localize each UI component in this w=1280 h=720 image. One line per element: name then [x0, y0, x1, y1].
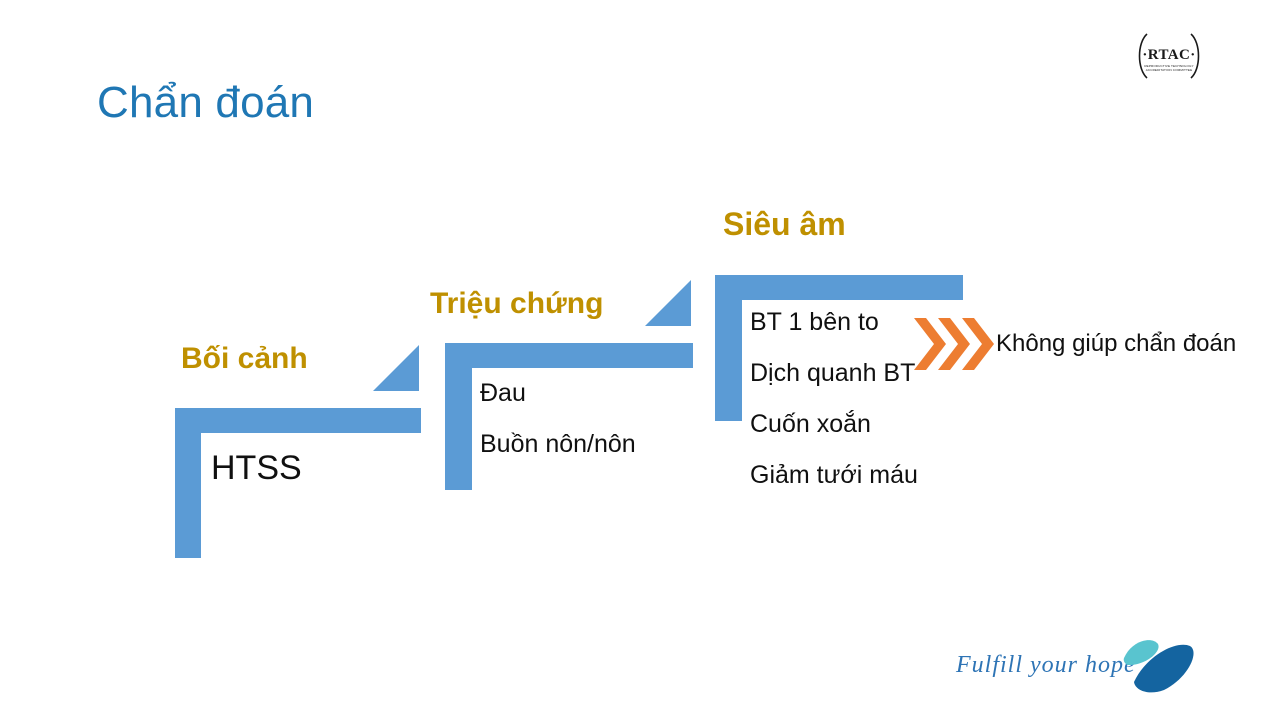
step-2-bar-vertical — [445, 343, 472, 490]
step-1-bar-vertical — [175, 408, 201, 558]
step-2-triangle-icon — [645, 280, 691, 326]
step-1-heading: Bối cảnh — [181, 342, 308, 376]
svg-text:ACCREDITATION COMMITTEE: ACCREDITATION COMMITTEE — [1146, 68, 1193, 72]
step-1-item: HTSS — [211, 449, 302, 488]
triple-chevron-right-icon — [914, 316, 994, 372]
step-3-item: Dịch quanh BT — [750, 359, 918, 388]
step-2-bar-horizontal — [445, 343, 693, 368]
step-1-bar-horizontal — [175, 408, 421, 433]
step-3-item: Cuốn xoắn — [750, 410, 918, 439]
step-3-item: BT 1 bên to — [750, 308, 918, 337]
step-2-content: Đau Buồn nôn/nôn — [480, 379, 636, 459]
svg-text:·RTAC·: ·RTAC· — [1142, 47, 1195, 63]
step-3-item: Giảm tưới máu — [750, 461, 918, 490]
step-3-content: BT 1 bên to Dịch quanh BT Cuốn xoắn Giảm… — [750, 308, 918, 490]
step-1-content: HTSS — [211, 449, 302, 488]
step-2-item: Buồn nôn/nôn — [480, 430, 636, 459]
step-3-bar-horizontal — [715, 275, 963, 300]
two-leaf-logo-icon — [1118, 634, 1202, 696]
slide-canvas: Chẩn đoán ·RTAC· REPRODUCTIVE TECHNOLOGY… — [0, 0, 1280, 720]
step-2-item: Đau — [480, 379, 636, 408]
page-title: Chẩn đoán — [97, 78, 314, 128]
outcome-label: Không giúp chẩn đoán — [996, 330, 1236, 358]
step-1-triangle-icon — [373, 345, 419, 391]
rtac-logo: ·RTAC· REPRODUCTIVE TECHNOLOGY ACCREDITA… — [1133, 31, 1205, 81]
step-3-bar-vertical — [715, 275, 742, 421]
step-3-heading: Siêu âm — [723, 206, 846, 243]
brand-tagline: Fulfill your hope — [956, 652, 1136, 679]
step-2-heading: Triệu chứng — [430, 287, 603, 321]
